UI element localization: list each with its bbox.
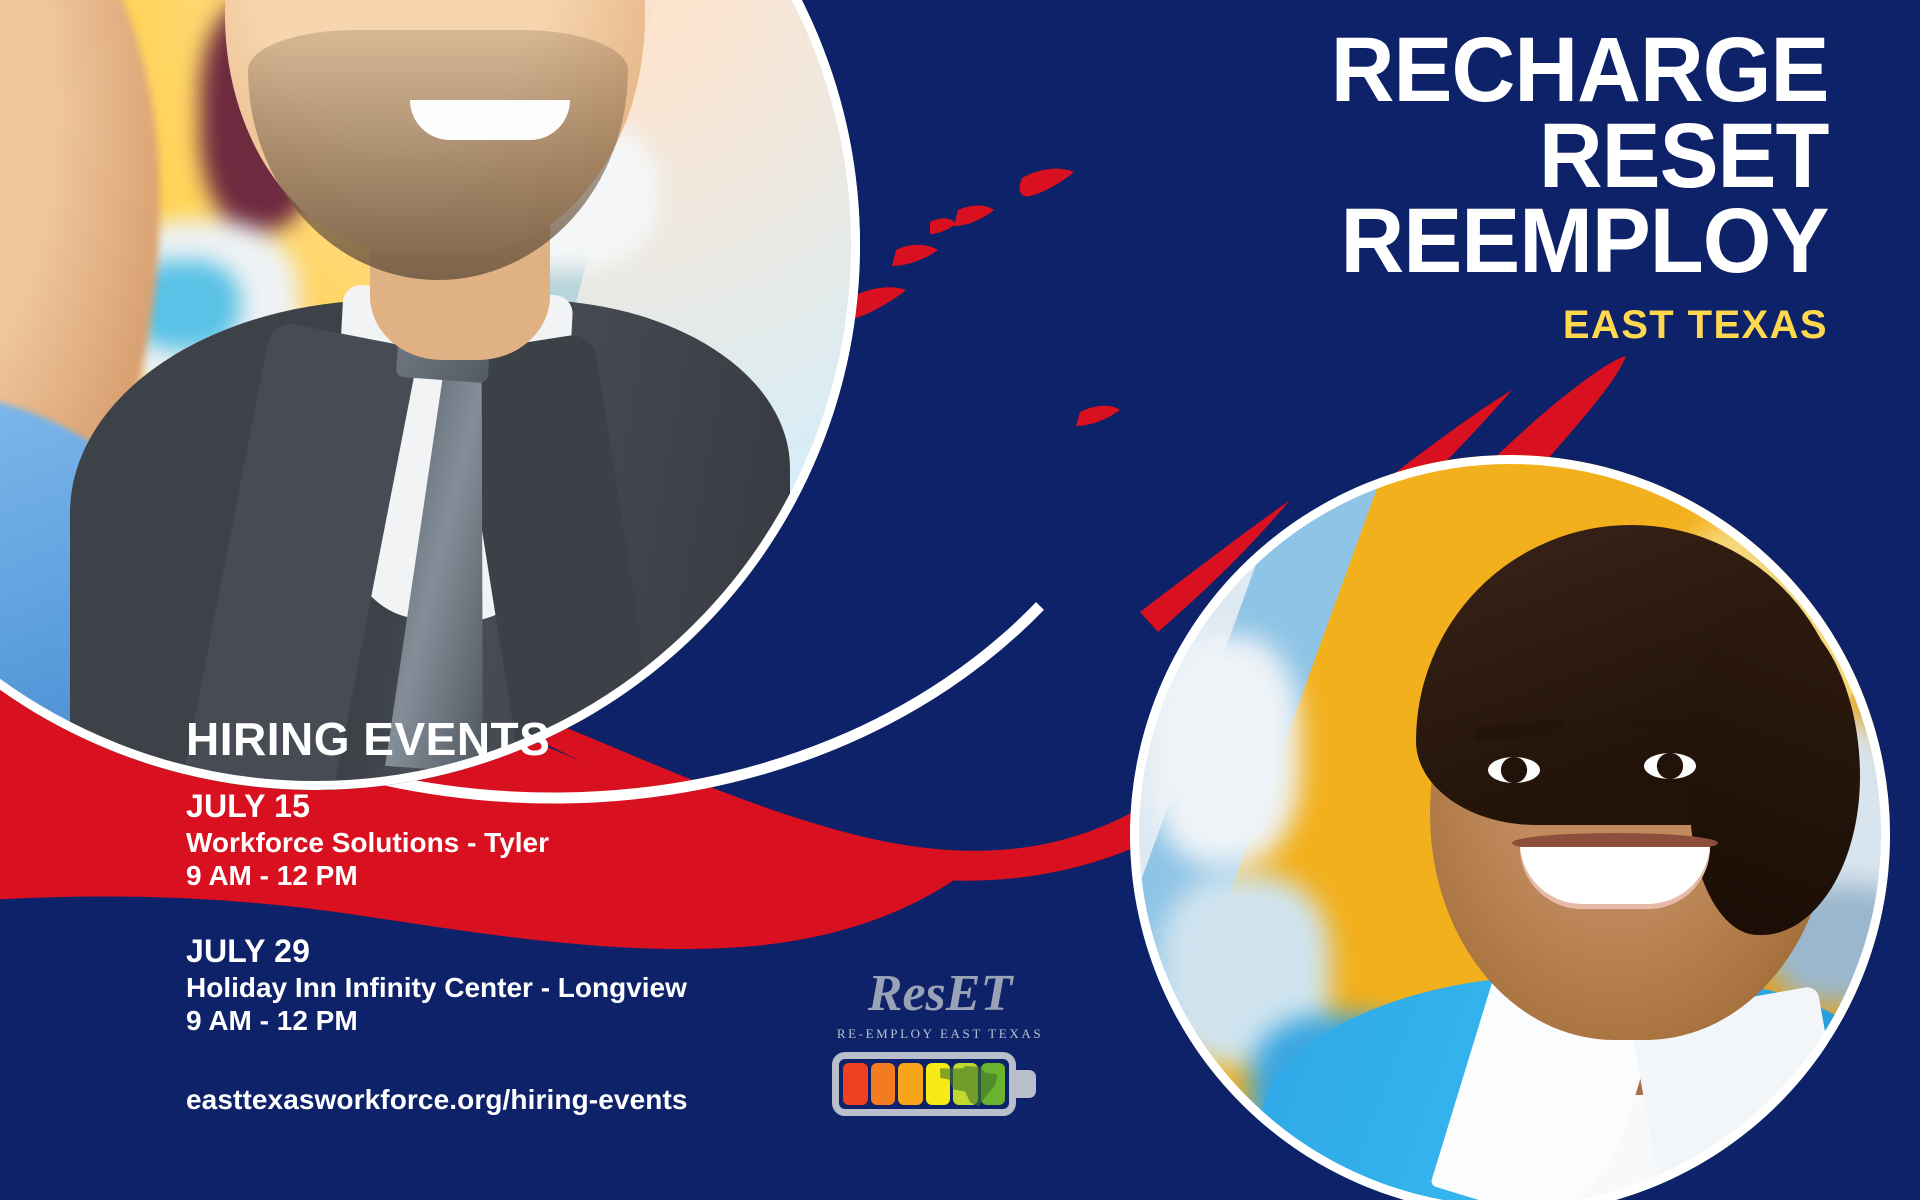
reset-logo: ResET RE-EMPLOY EAST TEXAS [832, 968, 1048, 1116]
event-date: JULY 15 [186, 788, 688, 826]
battery-cap [1016, 1070, 1036, 1098]
reset-tagline: RE-EMPLOY EAST TEXAS [832, 1026, 1048, 1042]
headline-line-reset: RESET [1330, 114, 1828, 200]
event-venue: Workforce Solutions - Tyler [186, 826, 688, 860]
battery-cell-2 [871, 1063, 896, 1105]
photo-woman-eye-right [1644, 753, 1696, 779]
poster-canvas: RECHARGE RESET REEMPLOY EAST TEXAS HIRIN… [0, 0, 1920, 1200]
hiring-events-title: HIRING EVENTS [186, 716, 688, 762]
battery-cell-1 [843, 1063, 868, 1105]
event-venue: Holiday Inn Infinity Center - Longview [186, 971, 688, 1005]
photo-man-smile [410, 100, 570, 140]
photo-woman-professional [1130, 455, 1890, 1200]
event-item: JULY 15 Workforce Solutions - Tyler 9 AM… [186, 788, 688, 893]
reset-wordmark: ResET [832, 968, 1048, 1020]
event-item: JULY 29 Holiday Inn Infinity Center - Lo… [186, 933, 688, 1038]
headline-block: RECHARGE RESET REEMPLOY EAST TEXAS [1310, 28, 1828, 348]
battery-icon [832, 1052, 1036, 1116]
headline-line-recharge: RECHARGE [1330, 28, 1828, 114]
photo-woman-eye-left [1488, 757, 1540, 783]
headline-region-label: EAST TEXAS [1310, 303, 1828, 348]
hiring-events-url[interactable]: easttexasworkforce.org/hiring-events [186, 1084, 688, 1116]
event-time: 9 AM - 12 PM [186, 1004, 688, 1038]
battery-cell-3 [898, 1063, 923, 1105]
headline-line-reemploy: REEMPLOY [1330, 199, 1828, 285]
hiring-events-block: HIRING EVENTS JULY 15 Workforce Solution… [186, 716, 688, 1116]
photo-man-in-suit [0, 0, 860, 790]
event-time: 9 AM - 12 PM [186, 859, 688, 893]
event-date: JULY 29 [186, 933, 688, 971]
